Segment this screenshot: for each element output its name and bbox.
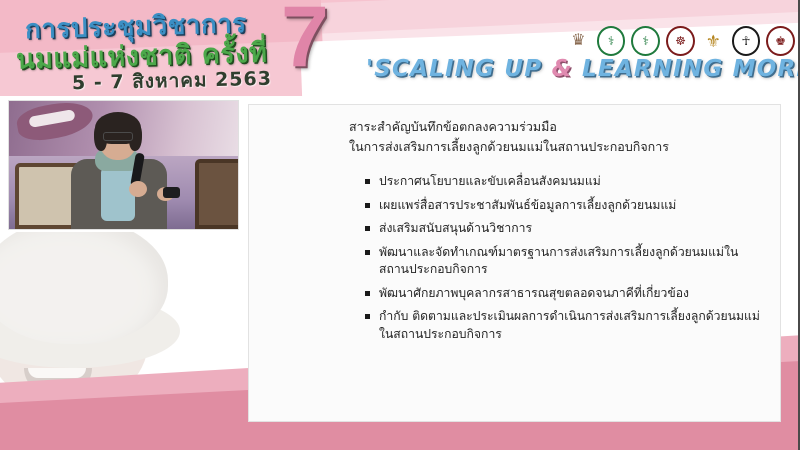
video-speaker-hand-mic [129,181,147,197]
list-item: พัฒนาและจัดทำเกณฑ์มาตรฐานการส่งเสริมการเ… [365,244,765,279]
list-item: เผยแพร่สื่อสารประชาสัมพันธ์ข้อมูลการเลี้… [365,197,765,215]
ministry-glyph: ⚕ [608,35,615,47]
content-heading: สาระสำคัญบันทึกข้อตกลงความร่วมมือ ในการส… [349,117,769,157]
content-heading-line2: ในการส่งเสริมการเลี้ยงลูกด้วยนมแม่ในสถาน… [349,137,769,157]
watermark-teeth [28,368,86,378]
list-item-label: พัฒนาและจัดทำเกณฑ์มาตรฐานการส่งเสริมการเ… [379,245,738,277]
square-bullet-icon [365,291,370,296]
national-institute-logo: ☥ [732,26,761,56]
square-bullet-icon [365,179,370,184]
square-bullet-icon [365,226,370,231]
thai-emblem-glyph: ☸ [675,35,686,47]
thai-emblem-logo: ☸ [666,26,695,56]
slide-header-banner: การประชุมวิชาการ นมแม่แห่งชาติ ครั้งที่ … [0,0,800,96]
list-item-label: เผยแพร่สื่อสารประชาสัมพันธ์ข้อมูลการเลี้… [379,198,676,212]
square-bullet-icon [365,203,370,208]
tagline-suffix: LEARNING MORE' [573,56,800,82]
square-bullet-icon [365,314,370,319]
presentation-slide: การประชุมวิชาการ นมแม่แห่งชาติ ครั้งที่ … [0,0,800,450]
square-bullet-icon [365,250,370,255]
conference-date: 5 - 7 สิงหาคม 2563 [72,64,273,96]
list-item-label: พัฒนาศักยภาพบุคลากรสาธารณสุขตลอดจนภาคีที… [379,286,689,300]
department-glyph: ⚕ [643,35,650,47]
conference-tagline: 'SCALING UP & LEARNING MORE' [366,56,800,82]
list-item-label: ส่งเสริมสนับสนุนด้านวิชาการ [379,221,532,235]
national-institute-glyph: ☥ [741,35,750,47]
tagline-prefix: 'SCALING UP [366,56,552,82]
video-chair-right [195,159,238,229]
mou-bullet-list: ประกาศนโยบายและขับเคลื่อนสังคมนมแม่ เผยแ… [365,173,765,349]
conference-edition-number: 7 [281,0,329,80]
royal-seal-glyph: ♛ [571,33,585,49]
list-item: พัฒนาศักยภาพบุคลากรสาธารณสุขตลอดจนภาคีที… [365,285,765,303]
ministry-of-public-health-logo: ⚕ [597,26,626,56]
list-item: ส่งเสริมสนับสนุนด้านวิชาการ [365,220,765,238]
content-panel: สาระสำคัญบันทึกข้อตกลงความร่วมมือ ในการส… [248,104,781,422]
video-speaker-remote [163,187,180,198]
video-speaker-glasses [103,132,133,141]
video-speaker-shirt [101,167,135,221]
list-item-label: กำกับ ติดตามและประเมินผลการดำเนินการส่งเ… [379,309,760,341]
university-crest-logo: ♚ [766,26,795,56]
list-item-label: ประกาศนโยบายและขับเคลื่อนสังคมนมแม่ [379,174,601,188]
list-item: ประกาศนโยบายและขับเคลื่อนสังคมนมแม่ [365,173,765,191]
conference-speaker-video[interactable] [9,101,238,229]
tagline-ampersand: & [552,56,573,82]
royal-seal-logo: ♛ [566,28,591,54]
partner-logo-row: ♛ ⚕ ⚕ ☸ ⚜ ☥ ♚ สสส THAI HEALTH [566,24,800,58]
content-heading-line1: สาระสำคัญบันทึกข้อตกลงความร่วมมือ [349,117,769,137]
list-item: กำกับ ติดตามและประเมินผลการดำเนินการส่งเ… [365,308,765,343]
university-crest-glyph: ♚ [775,35,786,47]
department-of-health-logo: ⚕ [631,26,660,56]
royal-crest-logo: ⚜ [701,28,726,54]
royal-crest-glyph: ⚜ [706,33,721,50]
